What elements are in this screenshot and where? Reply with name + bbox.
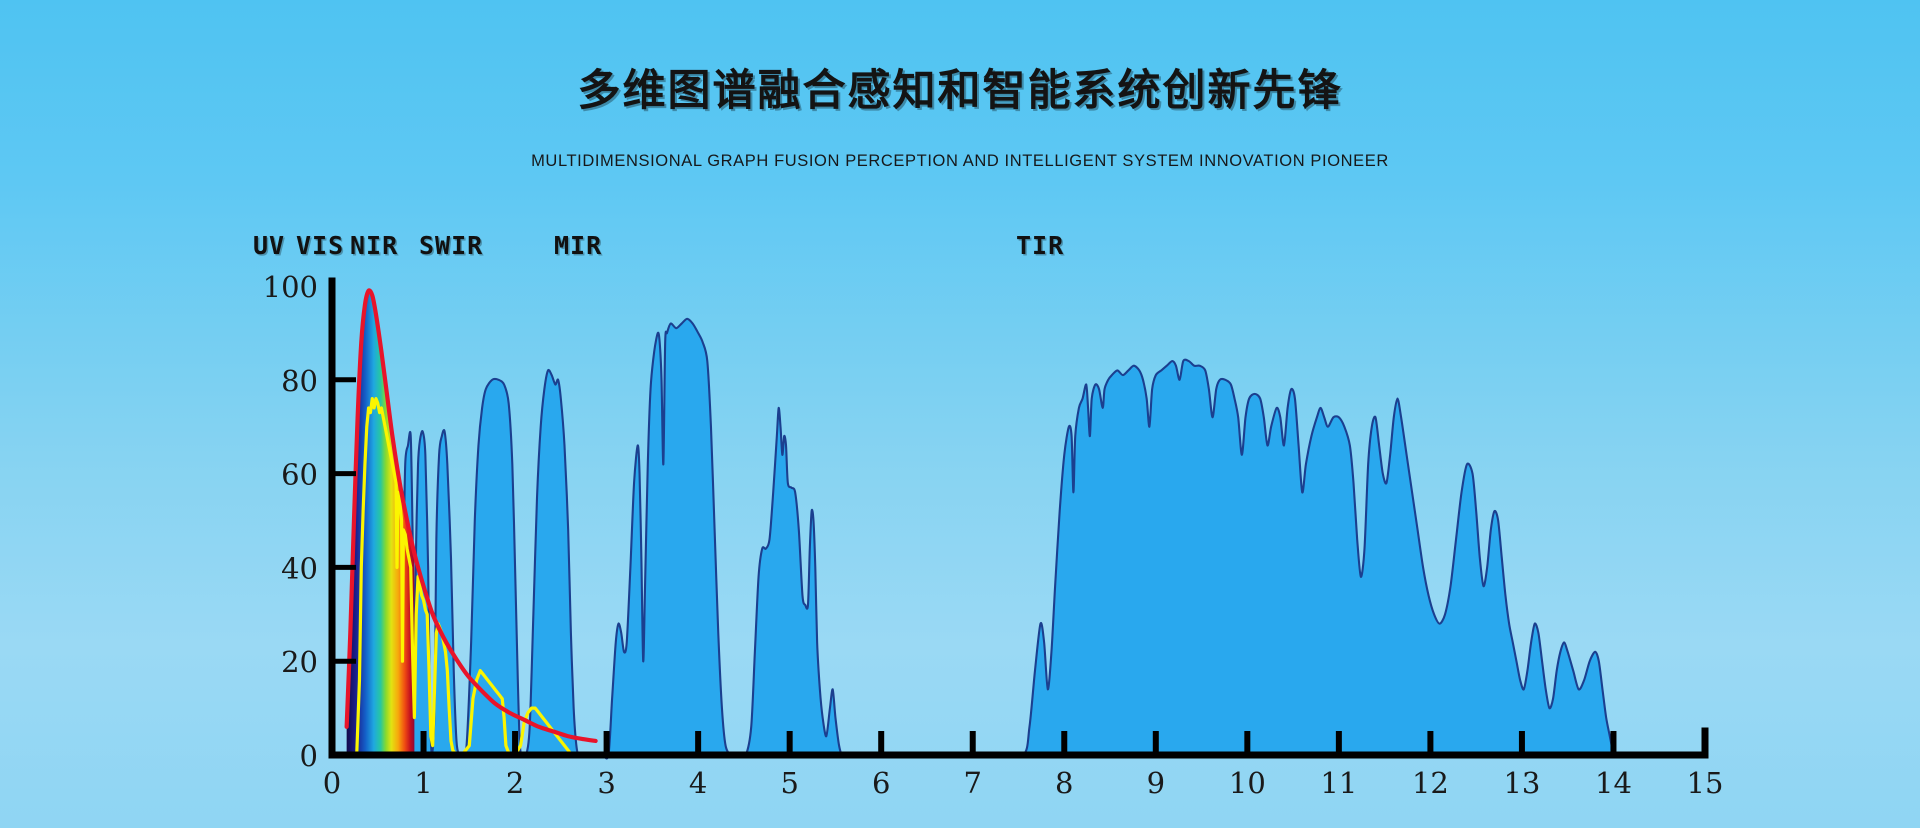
x-tick-label: 13 — [1503, 766, 1540, 800]
x-tick-label: 1 — [414, 766, 432, 800]
x-tick-label: 15 — [1687, 766, 1724, 800]
x-tick-label: 8 — [1055, 766, 1073, 800]
y-tick-label: 60 — [281, 458, 318, 492]
x-tick-label: 9 — [1147, 766, 1165, 800]
x-tick-label: 10 — [1229, 766, 1266, 800]
x-tick-label: 4 — [689, 766, 707, 800]
x-tick-label: 0 — [323, 766, 341, 800]
x-tick-label: 14 — [1595, 766, 1632, 800]
y-tick-label: 100 — [263, 270, 318, 304]
x-tick-label: 6 — [872, 766, 890, 800]
x-tick-label: 7 — [964, 766, 982, 800]
x-tick-label: 11 — [1320, 766, 1357, 800]
transmission-band-area — [352, 319, 1613, 759]
y-axis-labels: 020406080100 — [263, 270, 318, 773]
spectrum-chart: 0123456789101112131415 020406080100 — [0, 0, 1920, 828]
y-tick-label: 20 — [281, 645, 318, 679]
x-tick-label: 12 — [1412, 766, 1449, 800]
y-tick-label: 40 — [281, 551, 318, 585]
x-tick-label: 3 — [597, 766, 615, 800]
y-tick-label: 80 — [281, 364, 318, 398]
y-tick-label: 0 — [300, 739, 318, 773]
x-axis-labels: 0123456789101112131415 — [323, 766, 1724, 800]
x-tick-label: 5 — [780, 766, 798, 800]
x-tick-label: 2 — [506, 766, 524, 800]
